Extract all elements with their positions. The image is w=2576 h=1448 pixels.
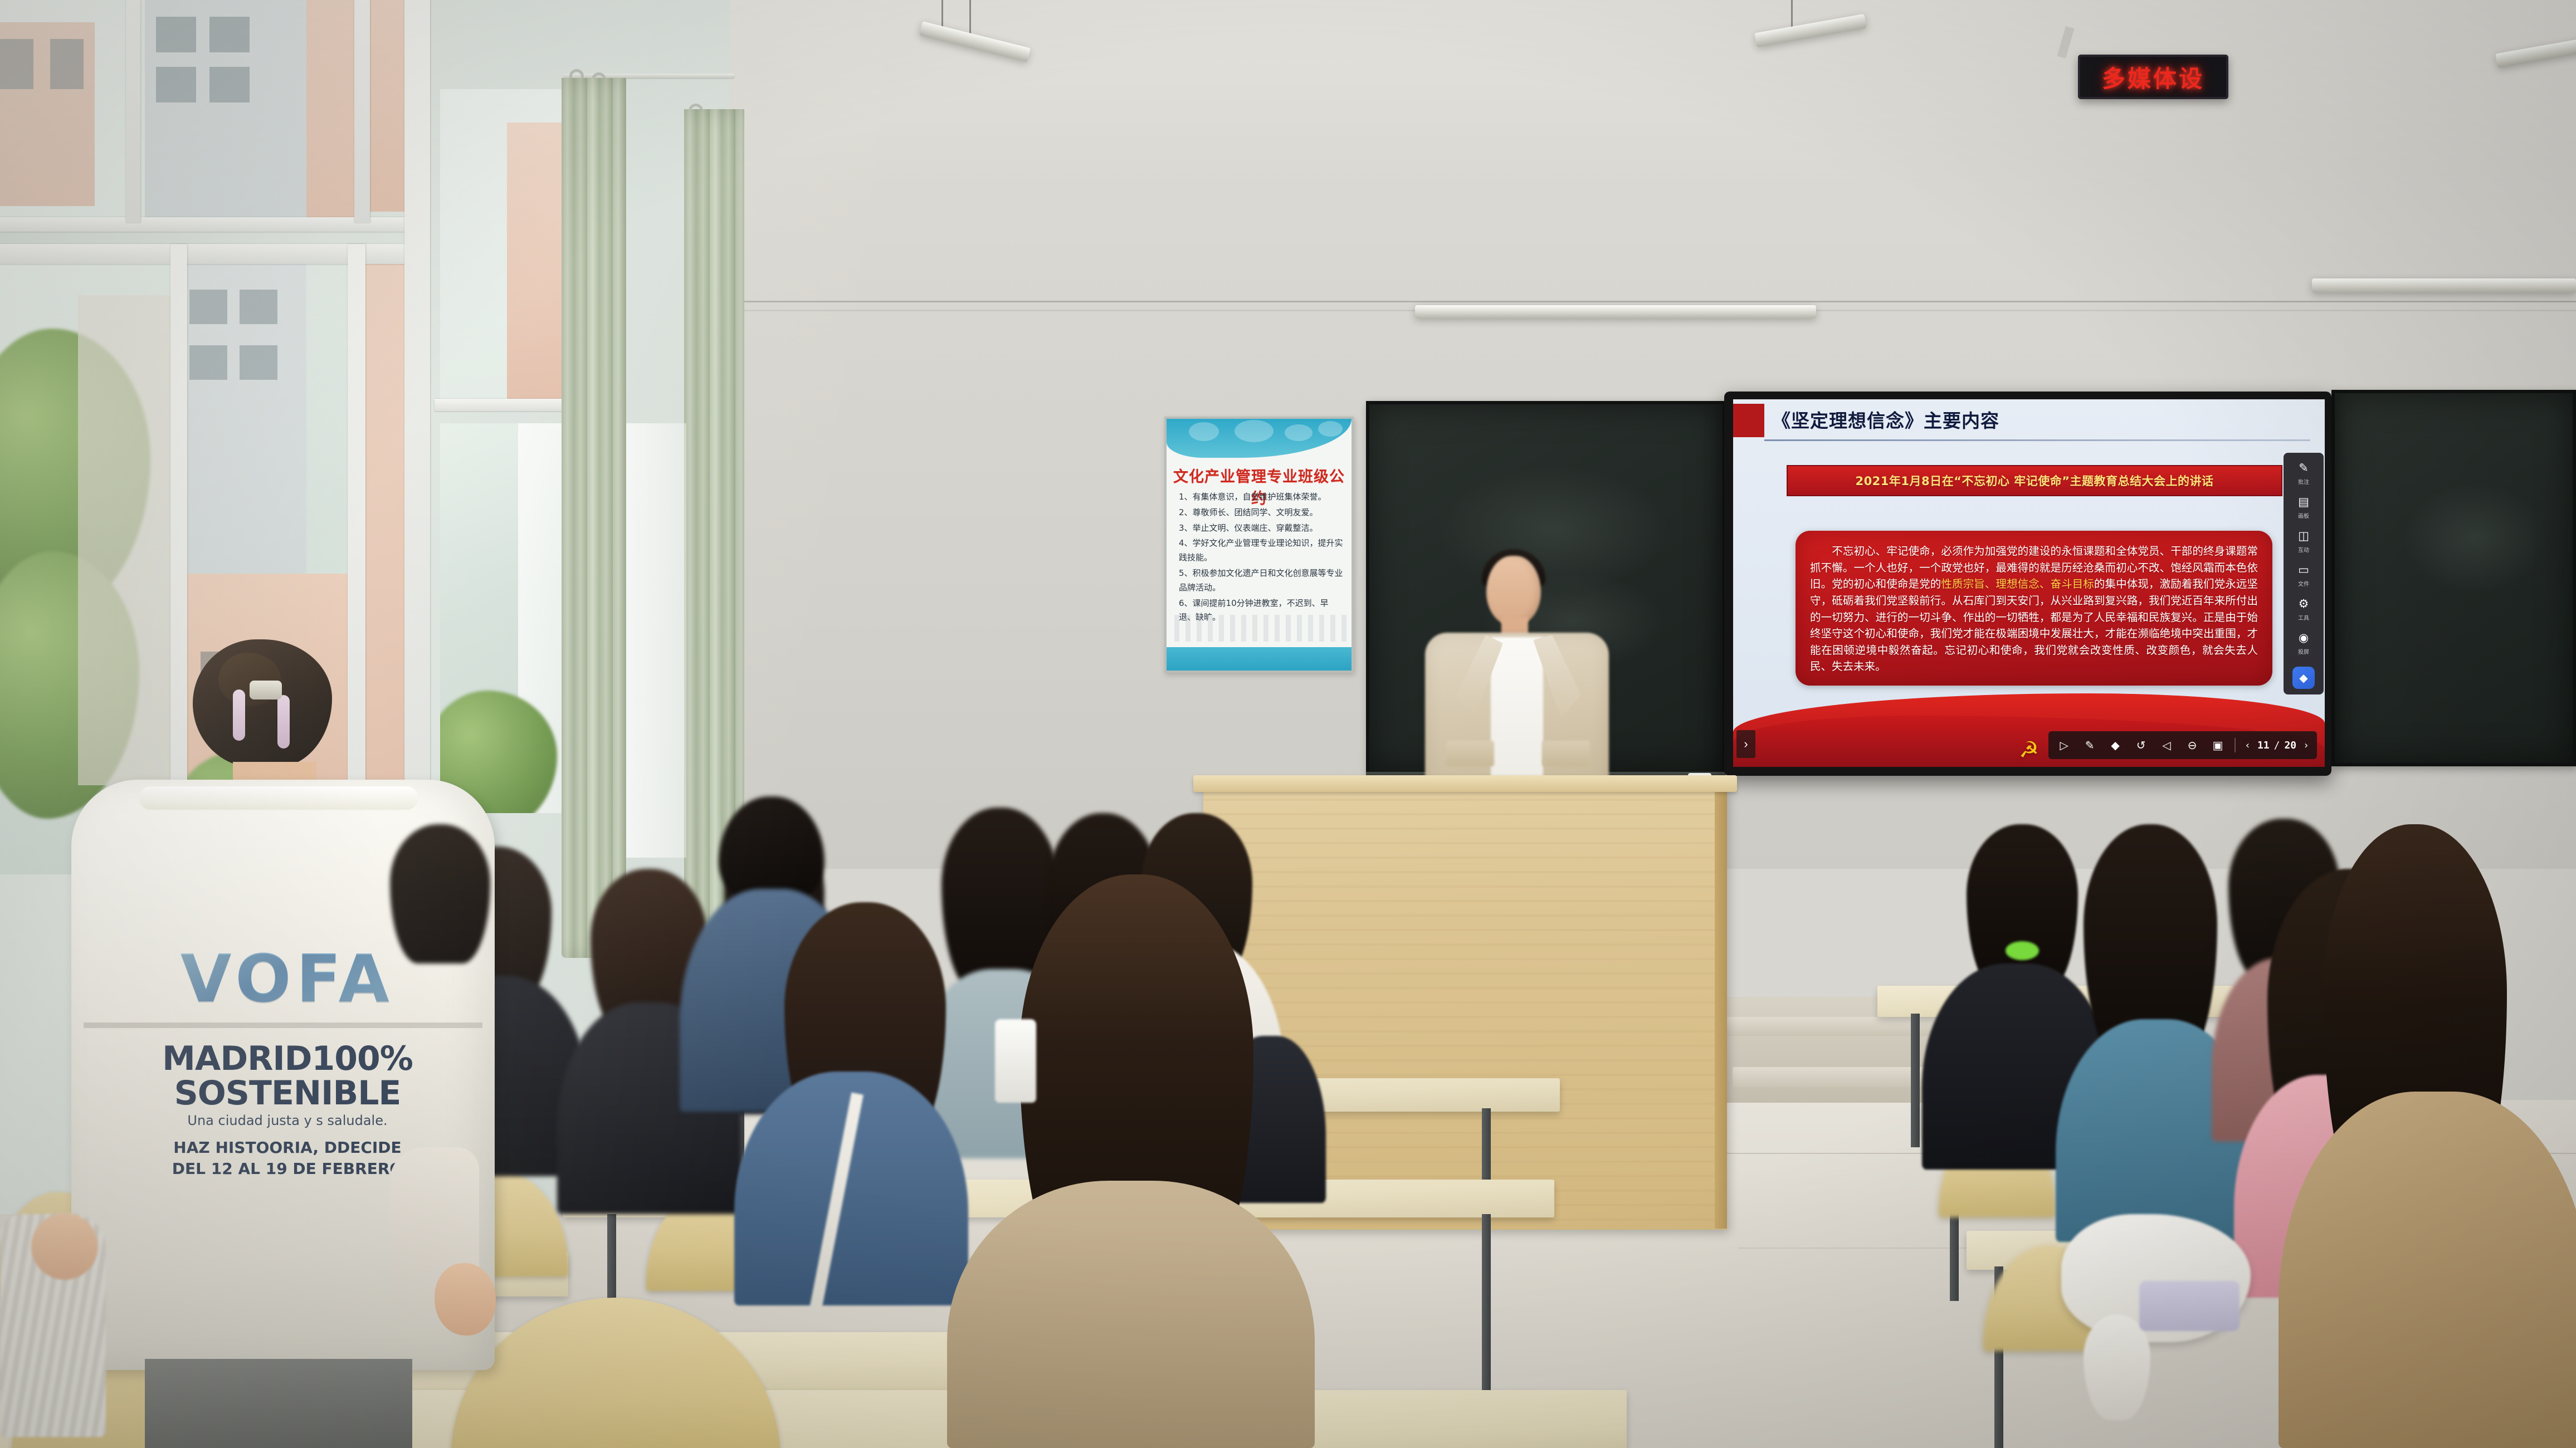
slide-prev-edge-button[interactable]: › bbox=[1736, 730, 1755, 758]
cast-icon: ◉ bbox=[2294, 629, 2313, 646]
slide-title: 《坚定理想信念》主要内容 bbox=[1772, 406, 1999, 433]
classroom-scene: 多媒体设 bbox=[0, 0, 2576, 1448]
total-page-number: 20 bbox=[2284, 740, 2296, 751]
sidebar-item-annotate[interactable]: ✎ 批注 bbox=[2294, 459, 2313, 486]
party-emblem-icon: ☭ bbox=[2019, 739, 2039, 761]
podium-top-surface bbox=[1193, 775, 1737, 792]
poster-rule: 4、学好文化产业管理专业理论知识，提升实践技能。 bbox=[1179, 536, 1344, 565]
poster-rule: 3、举止文明、仪表端庄、穿戴整洁。 bbox=[1179, 521, 1344, 536]
cursor-tool-icon[interactable]: ▷ bbox=[2052, 734, 2076, 756]
desk-item-pouch bbox=[2139, 1281, 2240, 1331]
laser-pointer-tool-icon[interactable]: ◁ bbox=[2154, 734, 2179, 756]
desk-leg bbox=[1482, 1214, 1491, 1392]
standing-student-hand bbox=[435, 1263, 496, 1336]
slide-toolbar[interactable]: ▷ ✎ ◆ ↺ ◁ ⊖ ▣ ‹ 11 / 20 › bbox=[2048, 731, 2317, 759]
ceiling bbox=[657, 0, 2576, 167]
presenter-pocket-left bbox=[1446, 741, 1494, 766]
student-hair bbox=[390, 824, 490, 963]
jacket-sleeve-knot bbox=[2084, 1314, 2150, 1420]
curtain-right[interactable] bbox=[684, 109, 744, 933]
water-bottle bbox=[995, 1019, 1036, 1103]
tools-icon: ⚙ bbox=[2294, 595, 2313, 612]
wall-seam bbox=[657, 301, 2576, 302]
sidebar-item-files[interactable]: ▭ 文件 bbox=[2294, 561, 2313, 588]
presenter-pocket-right bbox=[1542, 741, 1590, 766]
desk-leg bbox=[1911, 1014, 1920, 1147]
poster-rule-list: 1、有集体意识，自觉维护班集体荣誉。 2、尊敬师长、团结同学、文明友爱。 3、举… bbox=[1179, 490, 1344, 626]
window-mullion-wide bbox=[404, 0, 430, 902]
toolbar-divider bbox=[2235, 738, 2236, 752]
smart-display-screen[interactable]: 《坚定理想信念》主要内容 2021年1月8日在“不忘初心 牢记使命”主题教育总结… bbox=[1733, 399, 2325, 767]
poster-header-band bbox=[1167, 419, 1352, 458]
hair-clip bbox=[250, 681, 282, 699]
window-pane bbox=[139, 0, 357, 218]
eraser-tool-icon[interactable]: ◆ bbox=[2103, 734, 2128, 756]
student-foreground-coat bbox=[947, 1181, 1315, 1448]
poster-footer-band bbox=[1167, 647, 1352, 671]
sheer-curtain bbox=[626, 423, 686, 858]
multimedia-equipment-sign: 多媒体设 bbox=[2078, 55, 2228, 99]
sidebar-label-cast: 投屏 bbox=[2298, 647, 2309, 655]
smart-display-bezel: 《坚定理想信念》主要内容 2021年1月8日在“不忘初心 牢记使命”主题教育总结… bbox=[1724, 392, 2331, 776]
current-page-number: 11 bbox=[2257, 740, 2270, 751]
pen-tool-icon[interactable]: ✎ bbox=[2077, 734, 2102, 756]
window-pane bbox=[0, 0, 128, 223]
slide-title-rule bbox=[1764, 439, 2310, 441]
sidebar-label-annotate: 批注 bbox=[2298, 477, 2309, 486]
prev-page-button[interactable]: ‹ bbox=[2242, 740, 2253, 751]
files-icon: ▭ bbox=[2294, 561, 2313, 578]
window-frame bbox=[126, 0, 140, 223]
curtain-left[interactable] bbox=[562, 78, 626, 958]
hair-clip-bead-strand bbox=[233, 689, 245, 741]
led-sign-text: 多媒体设 bbox=[2102, 60, 2204, 94]
ceiling-light-tube bbox=[1415, 305, 1816, 319]
standing-student-trousers bbox=[145, 1359, 412, 1448]
window-pane bbox=[368, 0, 407, 212]
interact-icon: ◫ bbox=[2294, 527, 2313, 544]
display-side-rail[interactable]: ✎ 批注 ▤ 画板 ◫ 互动 ▭ 文件 ⚙ 工具 bbox=[2284, 453, 2324, 694]
sidebar-label-whiteboard: 画板 bbox=[2298, 511, 2309, 520]
screenshot-tool-icon[interactable]: ▣ bbox=[2206, 734, 2230, 756]
annotate-icon: ✎ bbox=[2294, 459, 2313, 476]
slide-banner-text: 2021年1月8日在“不忘初心 牢记使命”主题教育总结大会上的讲话 bbox=[1855, 472, 2213, 489]
hair-scrunchie bbox=[2006, 941, 2039, 960]
jacket-brand-text: VOFA bbox=[131, 940, 443, 1017]
poster-rule: 2、尊敬师长、团结同学、文明友爱。 bbox=[1179, 506, 1344, 520]
ceiling-light-tube bbox=[2312, 278, 2576, 293]
slide-body-part2: 的集中体现，激励着我们党永远坚守，砥砺着我们党坚毅前行。从石库门到天安门，从兴业… bbox=[1810, 578, 2258, 673]
whiteboard-icon: ▤ bbox=[2294, 493, 2313, 510]
sidebar-item-cast[interactable]: ◉ 投屏 bbox=[2294, 629, 2313, 655]
page-indicator: ‹ 11 / 20 › bbox=[2240, 740, 2314, 751]
jacket-line1: MADRID100% bbox=[131, 1039, 443, 1078]
slide-body-panel: 不忘初心、牢记使命，必须作为加强党的建设的永恒课题和全体党员、干部的终身课题常抓… bbox=[1796, 531, 2272, 686]
page-separator: / bbox=[2274, 740, 2280, 751]
class-convention-poster: 文化产业管理专业班级公约 1、有集体意识，自觉维护班集体荣誉。 2、尊敬师长、团… bbox=[1164, 417, 1354, 673]
hair-clip-bead-strand-2 bbox=[277, 695, 290, 749]
sidebar-label-files: 文件 bbox=[2298, 579, 2309, 588]
student-hand-left bbox=[31, 1213, 98, 1280]
jacket-line2: SOSTENIBLE bbox=[131, 1074, 443, 1113]
sidebar-item-tools[interactable]: ⚙ 工具 bbox=[2294, 595, 2313, 622]
jacket-line4: HAZ HISTOORIA, DDECIDE bbox=[131, 1138, 443, 1157]
poster-rule: 1、有集体意识，自觉维护班集体荣誉。 bbox=[1179, 490, 1344, 505]
jacket-line3: Una ciudad justa y s saludale. bbox=[131, 1113, 443, 1128]
hide-tool-icon[interactable]: ⊖ bbox=[2180, 734, 2204, 756]
sidebar-label-interact: 互动 bbox=[2298, 545, 2309, 554]
poster-rule: 5、积极参加文化遗产日和文化创意展等专业品牌活动。 bbox=[1179, 566, 1344, 595]
next-page-button[interactable]: › bbox=[2301, 740, 2311, 751]
slide-subtitle-banner: 2021年1月8日在“不忘初心 牢记使命”主题教育总结大会上的讲话 bbox=[1787, 465, 2282, 496]
blackboard-right bbox=[2331, 390, 2576, 766]
presentation-slide: 《坚定理想信念》主要内容 2021年1月8日在“不忘初心 牢记使命”主题教育总结… bbox=[1733, 399, 2325, 767]
undo-tool-icon[interactable]: ↺ bbox=[2129, 734, 2153, 756]
slide-body-highlight: 性质宗旨、理想信念、奋斗目标 bbox=[1941, 578, 2094, 590]
launcher-app-icon[interactable]: ◆ bbox=[2292, 667, 2315, 689]
sidebar-item-interact[interactable]: ◫ 互动 bbox=[2294, 527, 2313, 554]
jacket-collar bbox=[139, 786, 418, 810]
slide-accent-tab bbox=[1733, 404, 1764, 437]
sidebar-label-tools: 工具 bbox=[2298, 613, 2309, 622]
window-frame bbox=[354, 0, 370, 223]
jacket-seam bbox=[84, 1023, 482, 1028]
podium-side-edge bbox=[1715, 776, 1727, 1229]
presenter-head bbox=[1486, 556, 1541, 626]
poster-watermark bbox=[1174, 615, 1348, 642]
sidebar-item-whiteboard[interactable]: ▤ 画板 bbox=[2294, 493, 2313, 520]
